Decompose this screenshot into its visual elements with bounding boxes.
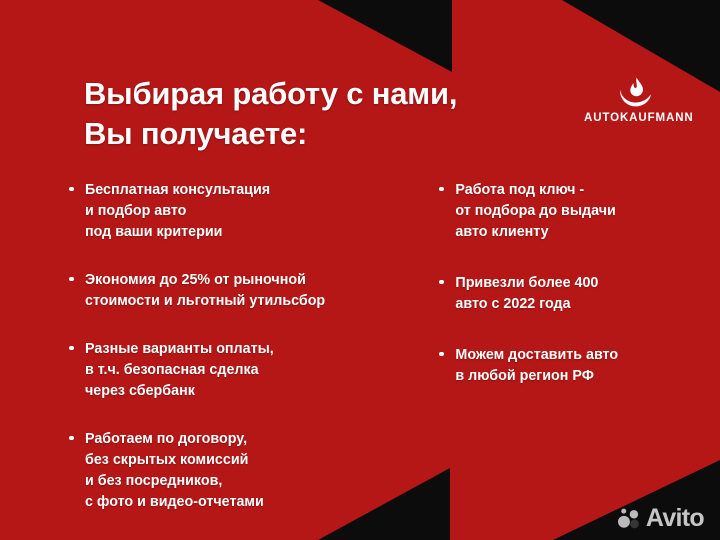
list-item-line: Можем доставить авто [455, 345, 688, 366]
bullet-dot-icon [439, 280, 444, 285]
list-item-line: от подбора до выдачи [455, 201, 688, 222]
list-item: Работа под ключ - от подбора до выдачи а… [438, 180, 688, 243]
bullet-dot-icon [69, 346, 74, 351]
heading-line-1: Выбирая работу с нами, [84, 74, 457, 114]
list-item-line: авто с 2022 года [455, 294, 688, 315]
list-item-line: с фото и видео-отчетами [85, 492, 412, 513]
list-item-line: стоимости и льготный утильсбор [85, 291, 412, 312]
list-item-line: и подбор авто [85, 201, 412, 222]
list-item-line: Экономия до 25% от рыночной [85, 270, 412, 291]
promo-poster: AUTOKAUFMANN Выбирая работу с нами, Вы п… [0, 0, 720, 540]
heading-line-2: Вы получаете: [84, 114, 457, 154]
avito-dots-icon [618, 507, 641, 530]
bullet-dot-icon [69, 277, 74, 282]
list-item-line: через сбербанк [85, 381, 412, 402]
page-title: Выбирая работу с нами, Вы получаете: [84, 74, 457, 153]
top-left-black-triangle [318, 0, 452, 72]
list-item: Экономия до 25% от рыночной стоимости и … [68, 270, 412, 312]
bullet-dot-icon [439, 187, 444, 192]
list-item: Работаем по договору, без скрытых комисс… [68, 429, 412, 513]
bullet-dot-icon [69, 187, 74, 192]
brand-logo: AUTOKAUFMANN [584, 76, 688, 124]
list-item: Можем доставить авто в любой регион РФ [438, 345, 688, 387]
list-item-line: Бесплатная консультация [85, 180, 412, 201]
avito-watermark: Avito [618, 506, 704, 531]
list-item-line: без скрытых комиссий [85, 450, 412, 471]
list-item: Бесплатная консультация и подбор авто по… [68, 180, 412, 243]
list-item-line: в т.ч. безопасная сделка [85, 360, 412, 381]
list-item-line: Работаем по договору, [85, 429, 412, 450]
list-item-line: авто клиенту [455, 222, 688, 243]
bullet-dot-icon [69, 436, 74, 441]
brand-name: AUTOKAUFMANN [584, 112, 688, 124]
list-item-line: Работа под ключ - [455, 180, 688, 201]
bullet-dot-icon [439, 352, 444, 357]
list-item-line: Привезли более 400 [455, 273, 688, 294]
avito-label: Avito [646, 506, 704, 531]
list-item-line: Разные варианты оплаты, [85, 339, 412, 360]
list-item-line: в любой регион РФ [455, 366, 688, 387]
list-item-line: и без посредников, [85, 471, 412, 492]
benefits-left-column: Бесплатная консультация и подбор авто по… [68, 180, 412, 513]
flame-swoosh-icon [617, 76, 655, 108]
list-item: Привезли более 400 авто с 2022 года [438, 273, 688, 315]
benefits-columns: Бесплатная консультация и подбор авто по… [68, 180, 688, 513]
list-item-line: под ваши критерии [85, 222, 412, 243]
benefits-right-column: Работа под ключ - от подбора до выдачи а… [438, 180, 688, 513]
list-item: Разные варианты оплаты, в т.ч. безопасна… [68, 339, 412, 402]
